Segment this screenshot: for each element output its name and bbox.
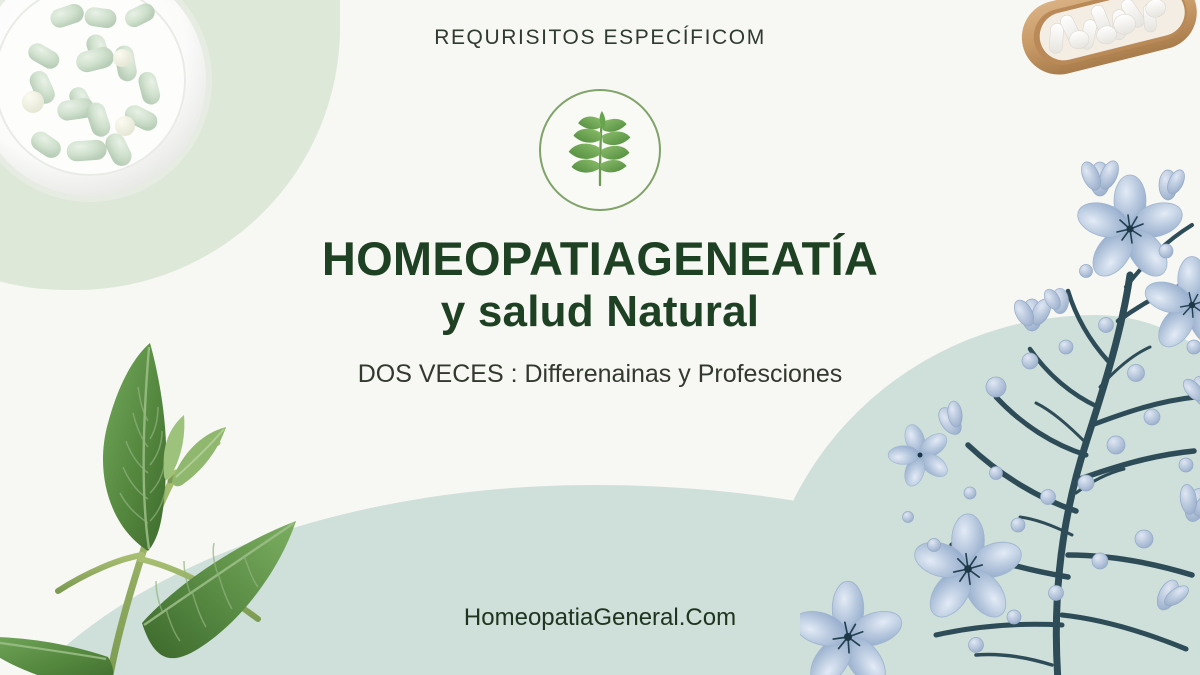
page-title-secondary: y salud Natural: [322, 286, 878, 338]
page-title-primary: HOMEOPATIAGENEATÍA: [322, 233, 878, 286]
leaf-sprig-icon: [562, 107, 638, 194]
leaf-logo-badge: [539, 89, 661, 211]
subtitle-text: DOS VECES : Differenainas y Profesciones: [358, 360, 842, 389]
banner-content: REQURISITOS ESPECÍFICOM: [0, 0, 1200, 675]
title-block: HOMEOPATIAGENEATÍA y salud Natural: [322, 233, 878, 338]
eyebrow-heading: REQURISITOS ESPECÍFICOM: [434, 26, 766, 50]
banner-canvas: REQURISITOS ESPECÍFICOM: [0, 0, 1200, 675]
footer-website-url: HomeopatiaGeneral.Com: [0, 604, 1200, 632]
